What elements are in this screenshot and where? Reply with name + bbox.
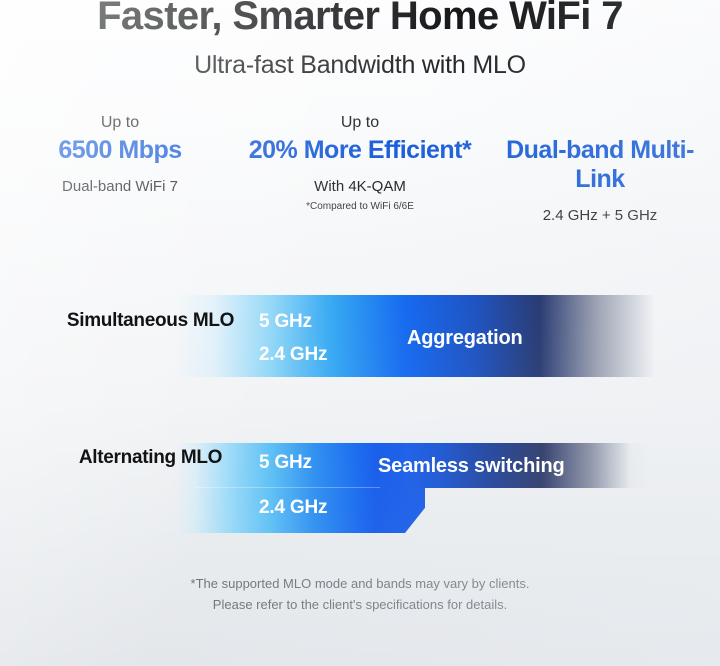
footnote-line-2: Please refer to the client's specificati…	[0, 594, 720, 615]
mlo-alternating-bars: 5 GHz 2.4 GHz Seamless switching	[0, 425, 720, 535]
footnote-line-1: *The supported MLO mode and bands may va…	[0, 573, 720, 594]
band-label-5ghz: 5 GHz	[259, 452, 312, 474]
stat-description: 2.4 GHz + 5 GHz	[484, 206, 716, 226]
page-title: Faster, Smarter Home WiFi 7	[0, 0, 720, 40]
stat-value: 20% More Efficient*	[244, 136, 476, 165]
mlo-simultaneous-bar: 5 GHz 2.4 GHz Aggregation	[175, 295, 655, 377]
mlo-simultaneous-diagram: Simultaneous MLO 5 GHz 2.4 GHz Aggregati…	[0, 285, 720, 395]
footnote: *The supported MLO mode and bands may va…	[0, 573, 720, 615]
stat-description: With 4K-QAM	[244, 177, 476, 197]
stat-prefix: Up to	[4, 112, 236, 134]
stats-row: Up to 6500 Mbps Dual-band WiFi 7 Up to 2…	[0, 112, 720, 229]
band-label-5ghz: 5 GHz	[259, 311, 312, 333]
band-label-24ghz: 2.4 GHz	[259, 344, 327, 366]
stat-card-speed: Up to 6500 Mbps Dual-band WiFi 7	[0, 112, 240, 200]
stat-card-multilink: Dual-band Multi-Link 2.4 GHz + 5 GHz	[480, 112, 720, 229]
stat-description: Dual-band WiFi 7	[4, 177, 236, 197]
stat-prefix: Up to	[244, 112, 476, 134]
stat-value: Dual-band Multi-Link	[484, 136, 716, 194]
promo-banner: Faster, Smarter Home WiFi 7 Ultra-fast B…	[0, 0, 720, 666]
mlo-alternating-diagram: Alternating MLO 5 GHz 2.4 GHz Seamless s…	[0, 425, 720, 535]
mlo-simultaneous-result: Aggregation	[407, 326, 523, 350]
page-subtitle: Ultra-fast Bandwidth with MLO	[0, 50, 720, 80]
band-divider	[195, 487, 380, 488]
band-label-24ghz: 2.4 GHz	[259, 497, 327, 519]
mlo-simultaneous-label: Simultaneous MLO	[58, 309, 243, 333]
stat-footnote: *Compared to WiFi 6/6E	[244, 200, 476, 213]
mlo-alternating-result: Seamless switching	[378, 454, 564, 478]
header: Faster, Smarter Home WiFi 7 Ultra-fast B…	[0, 0, 720, 80]
stat-card-efficiency: Up to 20% More Efficient* With 4K-QAM *C…	[240, 112, 480, 213]
stat-value: 6500 Mbps	[4, 136, 236, 165]
mlo-alternating-label: Alternating MLO	[58, 446, 243, 470]
